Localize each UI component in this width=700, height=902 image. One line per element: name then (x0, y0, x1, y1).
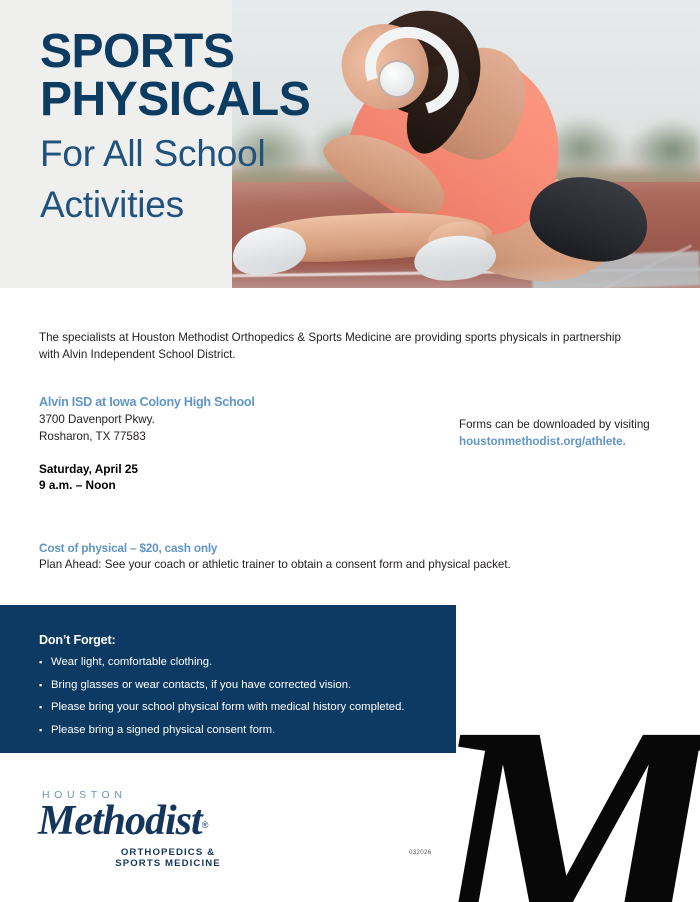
subheadline-line-2: Activities (40, 184, 310, 226)
headphone-earcup (380, 62, 414, 96)
logo-department: ORTHOPEDICS & SPORTS MEDICINE (70, 847, 266, 870)
reminders-list: Wear light, comfortable clothing. Bring … (39, 651, 439, 741)
list-item: Please bring a signed physical consent f… (39, 719, 439, 742)
logo-department-line-2: SPORTS MEDICINE (70, 858, 266, 870)
venue-block: Alvin ISD at Iowa Colony High School 370… (39, 394, 439, 493)
list-item: Wear light, comfortable clothing. (39, 651, 439, 674)
photo-bottom-fade (232, 262, 700, 288)
logo-department-line-1: ORTHOPEDICS & (70, 847, 266, 859)
logo-methodist-text: Methodist (38, 801, 202, 841)
venue-name: Alvin ISD at Iowa Colony High School (39, 394, 439, 411)
cost-title: Cost of physical – $20, cash only (39, 540, 639, 556)
venue-street: 3700 Davenport Pkwy. (39, 412, 439, 428)
forms-note: Forms can be downloaded by visiting hous… (459, 417, 679, 450)
forms-url-link[interactable]: houstonmethodist.org/athlete. (459, 435, 626, 448)
registered-trademark-icon: ® (202, 805, 208, 845)
list-item: Please bring your school physical form w… (39, 696, 439, 719)
cost-subtitle: Plan Ahead: See your coach or athletic t… (39, 557, 639, 573)
headline-line-2: PHYSICALS (40, 76, 310, 124)
houston-methodist-logo: HOUSTON Methodist® ORTHOPEDICS & SPORTS … (38, 789, 268, 870)
headline-group: SPORTS PHYSICALS For All School Activiti… (40, 28, 310, 226)
hero-banner: SPORTS PHYSICALS For All School Activiti… (0, 0, 700, 288)
forms-note-lead: Forms can be downloaded by visiting (459, 418, 650, 431)
event-time: 9 a.m. – Noon (39, 478, 439, 494)
list-item: Bring glasses or wear contacts, if you h… (39, 674, 439, 697)
intro-paragraph: The specialists at Houston Methodist Ort… (39, 330, 629, 363)
flyer-page: SPORTS PHYSICALS For All School Activiti… (0, 0, 700, 902)
reminders-box: Don’t Forget: Wear light, comfortable cl… (0, 605, 456, 753)
headline-line-1: SPORTS (40, 28, 310, 76)
reminders-title: Don’t Forget: (39, 633, 115, 647)
event-date: Saturday, April 25 (39, 462, 439, 478)
logo-methodist-wordmark: Methodist® (38, 801, 268, 845)
subheadline-line-1: For All School (40, 133, 310, 175)
methodist-m-watermark: M (427, 676, 700, 902)
venue-city-state-zip: Rosharon, TX 77583 (39, 429, 439, 445)
cost-block: Cost of physical – $20, cash only Plan A… (39, 540, 639, 573)
